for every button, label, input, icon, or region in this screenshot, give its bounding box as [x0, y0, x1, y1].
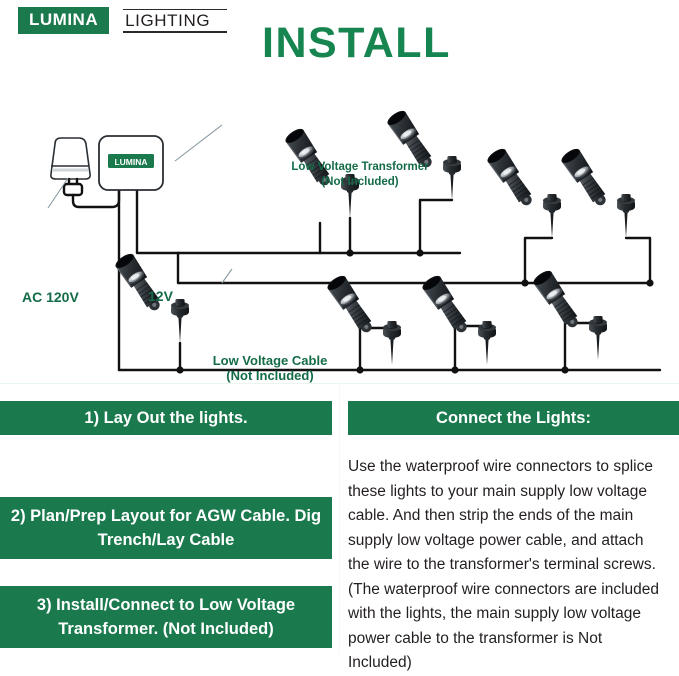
wiring-diagram-svg: LUMINA: [0, 78, 679, 378]
brand-rule-bottom: [123, 31, 227, 33]
transformer-callout-line2: (Not Included): [280, 175, 440, 190]
cable-callout-line2: (Not Included): [205, 368, 335, 383]
dc-voltage-label: 12V: [148, 289, 173, 304]
step-3-banner: 3) Install/Connect to Low Voltage Transf…: [0, 586, 332, 648]
light-fixture-3: [485, 146, 561, 238]
transformer-badge-text: LUMINA: [114, 157, 147, 167]
brand-logo-mark: LUMINA: [18, 7, 109, 34]
cable-callout-line1: Low Voltage Cable: [205, 353, 335, 368]
brand-logo: LUMINA LIGHTING: [18, 7, 227, 34]
light-fixture-7: [420, 273, 496, 365]
ac-voltage-label: AC 120V: [22, 290, 79, 305]
wiring-diagram: LUMINA Low Voltage Transformer (Not Incl…: [0, 78, 679, 378]
connect-the-lights-heading: Connect the Lights:: [348, 401, 679, 435]
brand-logo-word-wrap: LIGHTING: [123, 7, 227, 34]
low-voltage-cable-runs: [119, 188, 660, 370]
transformer-callout: Low Voltage Transformer (Not Included): [280, 160, 440, 190]
page-header: LUMINA LIGHTING INSTALL: [0, 0, 679, 40]
page-title: INSTALL: [262, 20, 451, 66]
column-divider: [339, 383, 340, 654]
brand-logo-word: LIGHTING: [123, 10, 227, 31]
connect-the-lights-body: Use the waterproof wire connectors to sp…: [348, 455, 668, 676]
step-1-banner: 1) Lay Out the lights.: [0, 401, 332, 435]
cable-callout: Low Voltage Cable (Not Included): [205, 353, 335, 383]
transformer-box: LUMINA: [99, 136, 163, 190]
light-fixture-6: [325, 273, 401, 365]
ac-outlet: [51, 138, 90, 179]
transformer-callout-line1: Low Voltage Transformer: [280, 160, 440, 175]
step-2-banner: 2) Plan/Prep Layout for AGW Cable. Dig T…: [0, 497, 332, 559]
light-fixture-4: [559, 146, 635, 238]
